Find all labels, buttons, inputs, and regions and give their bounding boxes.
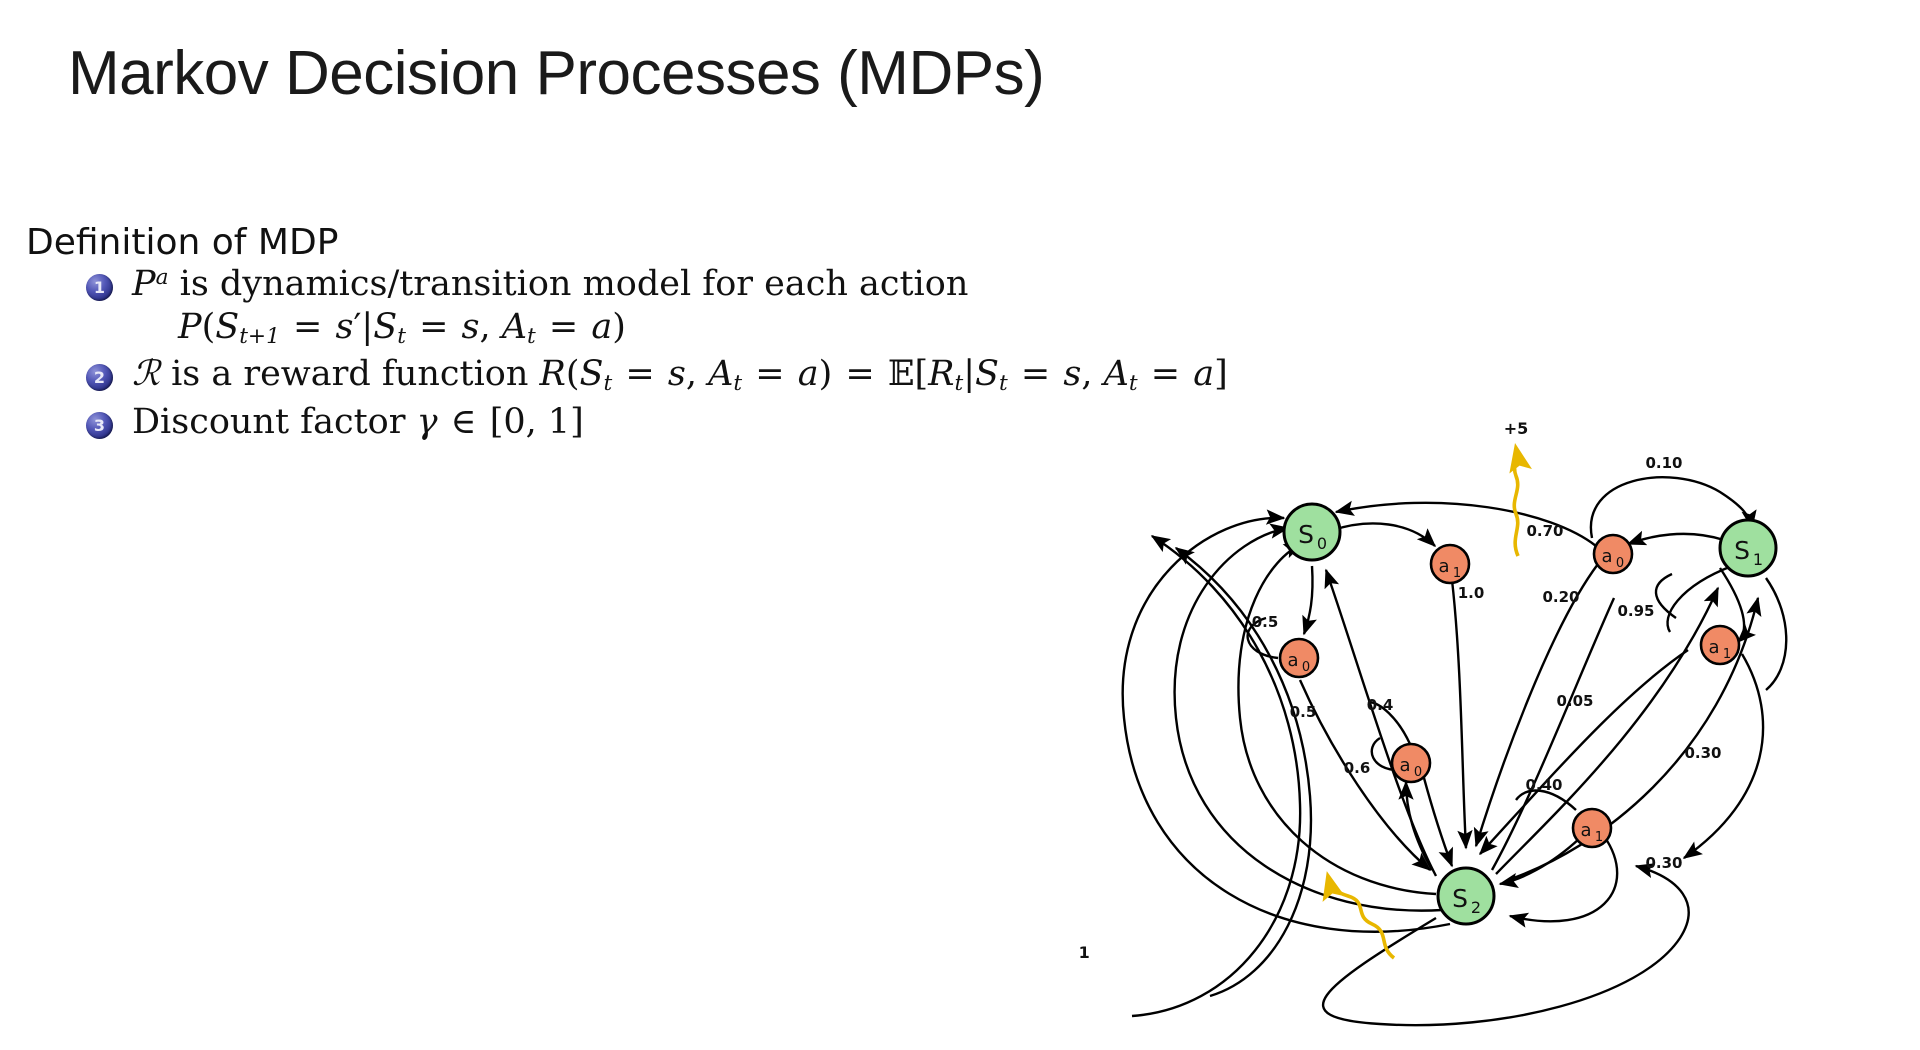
edge-label-0-10: 0.10 — [1645, 454, 1682, 472]
node-state-s0[interactable]: S 0 — [1284, 504, 1340, 560]
node-state-s2[interactable]: S 2 — [1438, 868, 1494, 924]
edge-a1right-s1-back — [1766, 578, 1786, 690]
edge-label-1-0: 1.0 — [1458, 584, 1485, 602]
edge-label-0-05: 0.05 — [1556, 692, 1593, 710]
node-label-s0: S — [1298, 520, 1314, 549]
edge-s2-s0-direct — [1326, 570, 1436, 876]
node-action-a0-bottom[interactable]: a 0 — [1392, 744, 1430, 782]
node-label-a1-bottom-sub: 1 — [1595, 830, 1603, 845]
edge-label-0-40: 0.40 — [1525, 776, 1562, 794]
edge-label-0-5-a: 0.5 — [1252, 613, 1279, 631]
node-label-a0-right: a — [1601, 546, 1612, 567]
edge-label-0-5-b: 0.5 — [1290, 703, 1317, 721]
edge-label-0-20: 0.20 — [1542, 588, 1579, 606]
node-label-a1-right: a — [1708, 637, 1719, 658]
edge-label-0-6: 0.6 — [1344, 759, 1371, 777]
node-label-s0-sub: 0 — [1317, 534, 1327, 553]
edge-a1bottom-030 — [1510, 836, 1617, 921]
reward-label-negative: -1 — [1080, 943, 1090, 962]
node-label-a0-left-sub: 0 — [1302, 660, 1310, 675]
edge-label-0-95: 0.95 — [1617, 602, 1654, 620]
edge-s2-bottom-loop — [1323, 866, 1689, 1025]
reward-label-positive: +5 — [1504, 419, 1529, 438]
bullet-1-body: Pa is dynamics/transition model for each… — [132, 262, 1266, 350]
mdp-graph-svg: S 0 S 1 S 2 a 1 a 0 a 0 — [1080, 418, 1800, 1038]
list-item: 1 Pa is dynamics/transition model for ea… — [86, 262, 1266, 350]
bullet-number-icon-2: 2 — [86, 364, 113, 391]
edge-label-0-70: 0.70 — [1526, 522, 1563, 540]
edge-s2-s0-c — [1123, 518, 1450, 932]
node-label-a1-right-sub: 1 — [1723, 647, 1731, 662]
edge-s1-a0right — [1628, 534, 1724, 544]
edge-label-0-30-b: 0.30 — [1645, 854, 1682, 872]
bullet-number-icon-3: 3 — [86, 412, 113, 439]
graph-nodes: S 0 S 1 S 2 a 1 a 0 a 0 — [1280, 504, 1776, 924]
node-action-a1-bottom[interactable]: a 1 — [1573, 809, 1611, 847]
edge-label-0-4: 0.4 — [1367, 696, 1394, 714]
node-label-a1-bottom: a — [1580, 820, 1591, 841]
edge-s1-a1right-stub — [1668, 566, 1732, 632]
edge-label-0-30-a: 0.30 — [1684, 744, 1721, 762]
node-label-a0-bottom: a — [1399, 755, 1410, 776]
node-label-a0-left: a — [1287, 650, 1298, 671]
node-action-a1-right[interactable]: a 1 — [1701, 626, 1739, 664]
edge-s0-a0left — [1304, 566, 1313, 634]
node-label-s1: S — [1734, 536, 1750, 565]
edge-095-loop — [1656, 574, 1676, 618]
edge-a1bottom-s2 — [1500, 838, 1580, 884]
node-label-s2: S — [1452, 884, 1468, 913]
node-label-a1-top-sub: 1 — [1453, 566, 1461, 581]
node-action-a0-left[interactable]: a 0 — [1280, 639, 1318, 677]
node-action-a0-right[interactable]: a 0 — [1594, 535, 1632, 573]
edge-s0-a1top — [1333, 523, 1435, 546]
node-action-a1-top[interactable]: a 1 — [1431, 545, 1469, 583]
node-label-s1-sub: 1 — [1753, 550, 1763, 569]
edge-left-outer — [1132, 536, 1300, 1016]
node-state-s1[interactable]: S 1 — [1720, 520, 1776, 576]
node-label-a0-bottom-sub: 0 — [1414, 765, 1422, 780]
bullet-1-line-1: Pa is dynamics/transition model for each… — [132, 264, 968, 304]
edge-left-mid — [1176, 548, 1311, 996]
bullet-2-body: ℛ is a reward function R(St = s, At = a)… — [132, 352, 1266, 398]
edge-a0bottom-s2 — [1424, 778, 1452, 866]
page-title: Markov Decision Processes (MDPs) — [68, 38, 1044, 109]
mdp-transition-graph: S 0 S 1 S 2 a 1 a 0 a 0 — [1080, 418, 1800, 1038]
edge-s2-s0-a — [1238, 544, 1436, 894]
block-heading-definition: Definition of MDP — [26, 222, 338, 263]
bullet-number-icon-1: 1 — [86, 274, 113, 301]
bullet-1-line-2: P(St+1 = s′|St = s, At = a) — [132, 305, 1266, 351]
list-item: 2 ℛ is a reward function R(St = s, At = … — [86, 352, 1266, 398]
node-label-a0-right-sub: 0 — [1616, 556, 1624, 571]
node-label-s2-sub: 2 — [1471, 898, 1481, 917]
edge-a1top-s2 — [1452, 580, 1466, 848]
node-label-a1-top: a — [1438, 556, 1449, 577]
reward-arrow-negative — [1328, 876, 1394, 958]
reward-arrow-positive — [1514, 448, 1518, 556]
